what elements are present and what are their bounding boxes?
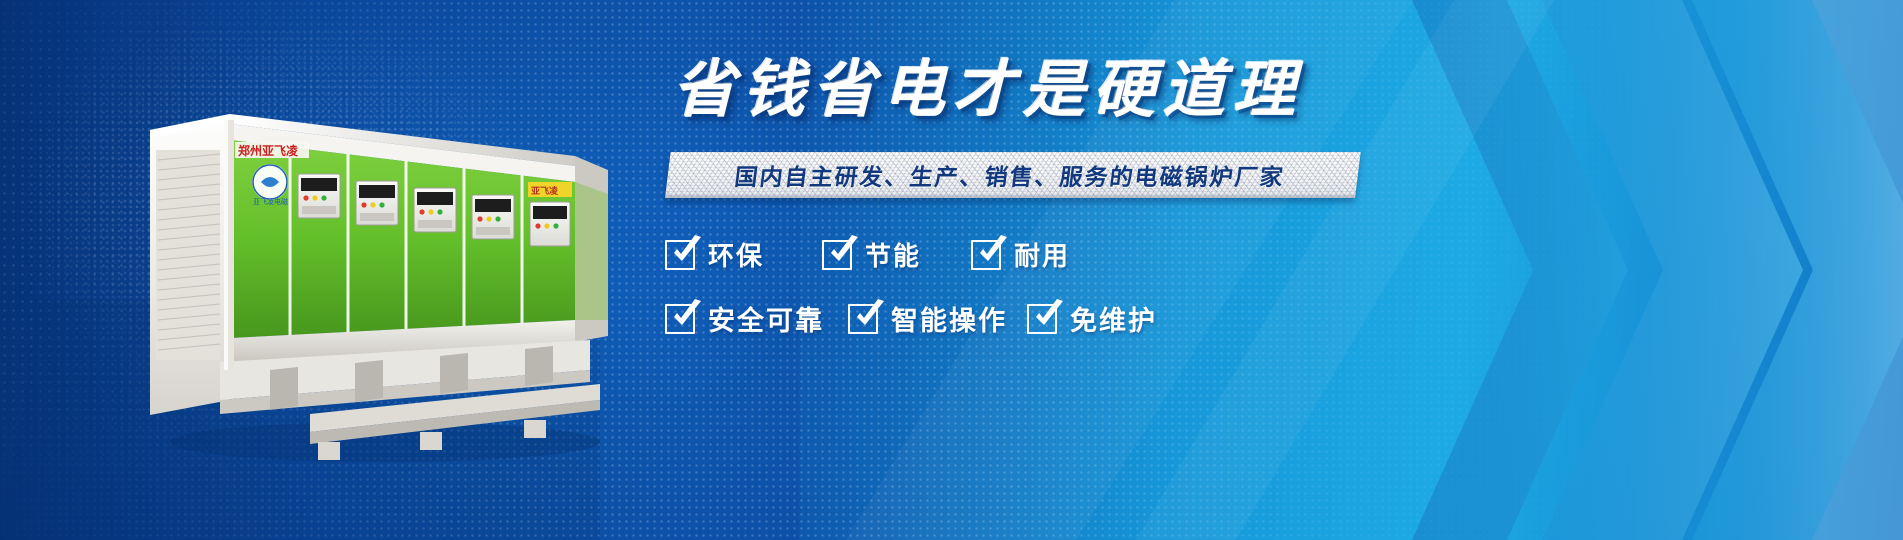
feature-label: 环保 bbox=[708, 236, 764, 273]
feature-label: 智能操作 bbox=[891, 299, 1007, 338]
feature-label: 耐用 bbox=[1014, 236, 1070, 273]
feature-row-1: 环保 节能 bbox=[665, 236, 1425, 273]
feature-list: 环保 节能 bbox=[665, 236, 1425, 338]
headline-text: 省钱省电才是硬道理 bbox=[673, 60, 1425, 122]
feature-item-naiyong: 耐用 bbox=[971, 236, 1070, 273]
banner-root: 郑州亚飞凌 亚飞凌电磁 亚飞凌 省 bbox=[0, 0, 1903, 540]
check-icon bbox=[971, 238, 1005, 272]
feature-item-mianweihu: 免维护 bbox=[1027, 299, 1157, 338]
svg-text:郑州亚飞凌: 郑州亚飞凌 bbox=[238, 143, 299, 158]
feature-label: 安全可靠 bbox=[708, 299, 824, 338]
svg-text:亚飞凌电磁: 亚飞凌电磁 bbox=[253, 197, 288, 206]
check-icon bbox=[822, 238, 856, 272]
ribbon-banner: 国内自主研发、生产、销售、服务的电磁锅炉厂家 bbox=[665, 152, 1365, 202]
banner-content: 省钱省电才是硬道理 国内自主研发、生产、销售、服务的电磁锅炉厂家 环保 bbox=[665, 60, 1425, 480]
check-icon bbox=[848, 302, 882, 336]
feature-label: 节能 bbox=[865, 236, 921, 273]
feature-item-zhinengcaozuo: 智能操作 bbox=[848, 299, 1007, 338]
svg-text:亚飞凌: 亚飞凌 bbox=[531, 185, 559, 196]
check-icon bbox=[1027, 302, 1061, 336]
check-icon bbox=[665, 302, 699, 336]
feature-label: 免维护 bbox=[1070, 299, 1157, 338]
check-icon bbox=[665, 238, 699, 272]
feature-item-jieneng: 节能 bbox=[822, 236, 921, 273]
product-photo-electromagnetic-boiler: 郑州亚飞凌 亚飞凌电磁 亚飞凌 bbox=[120, 70, 640, 470]
feature-item-anquankekao: 安全可靠 bbox=[665, 299, 824, 338]
ribbon-text: 国内自主研发、生产、销售、服务的电磁锅炉厂家 bbox=[662, 152, 1358, 198]
feature-row-2: 安全可靠 智能操作 bbox=[665, 299, 1425, 338]
feature-item-huanbao: 环保 bbox=[665, 236, 764, 273]
